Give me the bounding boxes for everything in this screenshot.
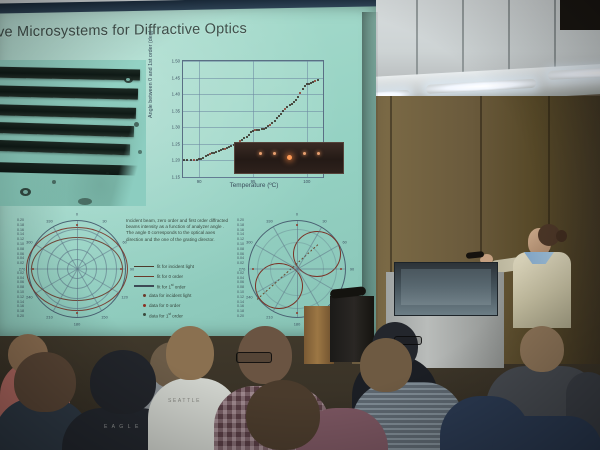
polar-angle-tick: 30 bbox=[322, 219, 326, 224]
polar-radial-tick: 0.02 bbox=[237, 271, 244, 275]
polar-radial-tick: 0.14 bbox=[17, 232, 24, 236]
chart-data-point bbox=[291, 103, 293, 105]
polar-data-marker bbox=[296, 312, 298, 314]
polar-radial-tick: 0.08 bbox=[237, 247, 244, 251]
chart-data-point bbox=[286, 106, 288, 108]
legend-row: fit for 1st order bbox=[134, 281, 234, 291]
chart-y-tick: 1.25 bbox=[172, 141, 180, 146]
polar-data-marker bbox=[76, 312, 78, 314]
chart-data-point bbox=[243, 137, 245, 139]
chart-data-point bbox=[248, 134, 250, 136]
chart-y-tick: 1.15 bbox=[172, 175, 180, 180]
polar-angle-tick: 150 bbox=[101, 314, 108, 319]
polar-angle-tick: 300 bbox=[26, 239, 33, 244]
list-item bbox=[360, 338, 412, 392]
chart-data-point bbox=[297, 96, 299, 98]
polar-radial-tick: 0.06 bbox=[17, 252, 24, 256]
polar-radial-tick: 0.06 bbox=[237, 280, 244, 284]
legend-row: data for incident light bbox=[134, 291, 234, 301]
chart-y-tick: 1.30 bbox=[172, 125, 180, 130]
chart-data-point bbox=[317, 79, 319, 81]
polar-angle-tick: 300 bbox=[246, 239, 253, 244]
polar-spoke bbox=[77, 269, 78, 317]
polar-radial-tick: 0.18 bbox=[17, 223, 24, 227]
polar-radial-tick: 0.16 bbox=[237, 304, 244, 308]
polar-radial-tick: 0.08 bbox=[237, 285, 244, 289]
ceiling-soffit bbox=[560, 0, 600, 30]
polar-radial-tick: 0.10 bbox=[237, 290, 244, 294]
polar-angle-tick: 0 bbox=[76, 212, 78, 217]
chart-data-point bbox=[302, 88, 304, 90]
chart-data-point bbox=[304, 85, 306, 87]
slide-title: ctive Microsystems for Diffractive Optic… bbox=[0, 19, 362, 40]
polar-radial-tick: 0.12 bbox=[17, 295, 24, 299]
chart-y-axis-label: Angle between 0 and 1st order (deg) bbox=[148, 30, 154, 118]
projection-screen: ctive Microsystems for Diffractive Optic… bbox=[0, 6, 376, 336]
chart-y-tick: 1.20 bbox=[172, 158, 180, 163]
light-strip-2 bbox=[426, 79, 536, 94]
polar-angle-tick: 210 bbox=[266, 314, 273, 319]
polar-spoke bbox=[78, 269, 126, 270]
polar-radial-tick: 0.08 bbox=[17, 285, 24, 289]
polar-radial-tick: 0.10 bbox=[17, 242, 24, 246]
polar-data-marker bbox=[252, 268, 254, 270]
legend-row: data for 1st order bbox=[134, 310, 234, 320]
polar-radial-tick: 0.14 bbox=[237, 232, 244, 236]
chart-data-point bbox=[183, 159, 185, 161]
polar-radial-tick: 0.20 bbox=[17, 314, 24, 318]
polar-radial-tick: 0.14 bbox=[17, 300, 24, 304]
chart-data-point bbox=[267, 125, 269, 127]
chart-data-point bbox=[293, 101, 295, 103]
polar-angle-tick: 330 bbox=[46, 219, 53, 224]
light-strip-3 bbox=[548, 64, 600, 80]
polar-radial-tick: 0.04 bbox=[17, 276, 24, 280]
chart-data-point bbox=[246, 136, 248, 138]
diffraction-orders-inset bbox=[234, 142, 344, 174]
audience: E A G L E SEATTLE bbox=[0, 320, 600, 450]
list-item bbox=[14, 352, 76, 412]
polar-radial-tick: 0.20 bbox=[237, 314, 244, 318]
polar-radial-tick: 0.16 bbox=[17, 228, 24, 232]
polar-radial-tick: 0.04 bbox=[237, 276, 244, 280]
polar-angle-tick: 240 bbox=[246, 294, 253, 299]
polar-angle-tick: 30 bbox=[102, 219, 106, 224]
chart-data-point bbox=[241, 139, 243, 141]
polar-spoke bbox=[30, 269, 78, 270]
polar-data-marker bbox=[296, 224, 298, 226]
chart-data-point bbox=[190, 159, 192, 161]
chart-data-point bbox=[186, 159, 188, 161]
polar-radial-tick: 0.08 bbox=[17, 247, 24, 251]
legend-row: data for 0 order bbox=[134, 300, 234, 310]
legend-dot-swatch bbox=[143, 304, 146, 307]
polar-radial-tick: 0.20 bbox=[17, 218, 24, 222]
polar-radial-tick: 0.12 bbox=[17, 237, 24, 241]
polar-radial-tick: 0.06 bbox=[237, 252, 244, 256]
grating-micrograph bbox=[0, 60, 146, 206]
list-item bbox=[492, 416, 600, 450]
polar-plot-left: 0306090120150180210240270300330 0.020.02… bbox=[2, 212, 130, 336]
polar-radial-tick: 0.18 bbox=[237, 309, 244, 313]
polar-angle-tick: 240 bbox=[26, 294, 33, 299]
chart-data-point bbox=[250, 131, 252, 133]
chart-data-point bbox=[299, 92, 301, 94]
polar-radial-tick: 0.02 bbox=[17, 261, 24, 265]
polar-radial-tick: 0.16 bbox=[17, 304, 24, 308]
chart-data-point bbox=[276, 117, 278, 119]
laptop-on-podium bbox=[394, 262, 498, 316]
polar-angle-tick: 0 bbox=[296, 212, 298, 217]
shirt-text: E A G L E bbox=[104, 424, 140, 430]
chart-data-point bbox=[282, 110, 284, 112]
legend-label: fit for 0 order bbox=[157, 274, 183, 279]
polar-radial-tick: 0.20 bbox=[237, 218, 244, 222]
legend-line-swatch bbox=[134, 276, 154, 277]
legend-label: fit for 1st order bbox=[157, 283, 186, 290]
polar-angle-tick: 60 bbox=[342, 239, 346, 244]
polar-data-marker bbox=[340, 268, 342, 270]
legend-label: data for 1st order bbox=[149, 312, 183, 319]
list-item bbox=[520, 326, 564, 372]
chart-data-point bbox=[278, 115, 280, 117]
legend-dot-swatch bbox=[143, 313, 146, 316]
slide-legend: fit for incident lightfit for 0 orderfit… bbox=[134, 262, 234, 320]
polar-radial-tick: 0.18 bbox=[17, 309, 24, 313]
polar-angle-tick: 330 bbox=[266, 219, 273, 224]
polar-radial-tick: 0.12 bbox=[237, 295, 244, 299]
list-item bbox=[90, 350, 156, 414]
list-item bbox=[246, 380, 320, 450]
polar-radial-tick: 0.04 bbox=[17, 256, 24, 260]
screenshot-root: ctive Microsystems for Diffractive Optic… bbox=[0, 0, 600, 450]
polar-spoke bbox=[297, 221, 298, 269]
chart-y-tick: 1.35 bbox=[172, 108, 180, 113]
legend-row: fit for 0 order bbox=[134, 272, 234, 282]
legend-row: fit for incident light bbox=[134, 262, 234, 272]
polar-radial-tick: 0.16 bbox=[237, 228, 244, 232]
polar-radial-tick: 0.02 bbox=[237, 261, 244, 265]
polar-spoke bbox=[297, 269, 298, 317]
presenter-hair-bun bbox=[556, 230, 567, 242]
chart-data-point bbox=[274, 120, 276, 122]
polar-radial-tick: 0.02 bbox=[17, 271, 24, 275]
list-item bbox=[166, 326, 214, 380]
polar-radial-tick: 0.12 bbox=[237, 237, 244, 241]
chart-y-tick: 1.45 bbox=[172, 75, 180, 80]
legend-line-swatch bbox=[134, 266, 154, 267]
chart-data-point bbox=[280, 113, 282, 115]
legend-dot-swatch bbox=[143, 294, 146, 297]
chart-data-point bbox=[193, 159, 195, 161]
chart-data-point bbox=[269, 124, 271, 126]
chart-data-point bbox=[295, 99, 297, 101]
polar-angle-tick: 210 bbox=[46, 314, 53, 319]
polar-data-marker bbox=[120, 268, 122, 270]
legend-label: data for 0 order bbox=[149, 303, 180, 308]
chart-y-tick: 1.50 bbox=[172, 59, 180, 64]
slide-caption: Incident beam, zero order and first orde… bbox=[126, 218, 230, 243]
legend-line-swatch bbox=[134, 285, 154, 286]
polar-radial-tick: 0.06 bbox=[17, 280, 24, 284]
polar-data-marker bbox=[32, 268, 34, 270]
polar-radial-tick: 0.14 bbox=[237, 300, 244, 304]
legend-label: fit for incident light bbox=[157, 264, 194, 269]
polar-radial-tick: 0.10 bbox=[17, 290, 24, 294]
legend-label: data for incident light bbox=[149, 293, 191, 298]
polar-radial-tick: 0.18 bbox=[237, 223, 244, 227]
polar-data-marker bbox=[76, 224, 78, 226]
polar-spoke bbox=[250, 269, 298, 270]
chart-x-axis-label: Temperature (ºC) bbox=[184, 182, 324, 189]
polar-angle-tick: 120 bbox=[121, 294, 128, 299]
chart-gridline-h bbox=[183, 177, 323, 178]
chart-y-tick: 1.40 bbox=[172, 92, 180, 97]
polar-spoke bbox=[298, 269, 346, 270]
angle-vs-temperature-chart: Angle between 0 and 1st order (deg) 1.15… bbox=[150, 50, 342, 208]
polar-angle-tick: 90 bbox=[350, 267, 354, 272]
shirt-text: SEATTLE bbox=[168, 398, 201, 404]
polar-spoke bbox=[77, 221, 78, 269]
chart-data-point bbox=[284, 108, 286, 110]
chart-data-point bbox=[271, 122, 273, 124]
screen-top-frame bbox=[0, 0, 376, 14]
polar-radial-tick: 0.10 bbox=[237, 242, 244, 246]
polar-radial-tick: 0.04 bbox=[237, 256, 244, 260]
